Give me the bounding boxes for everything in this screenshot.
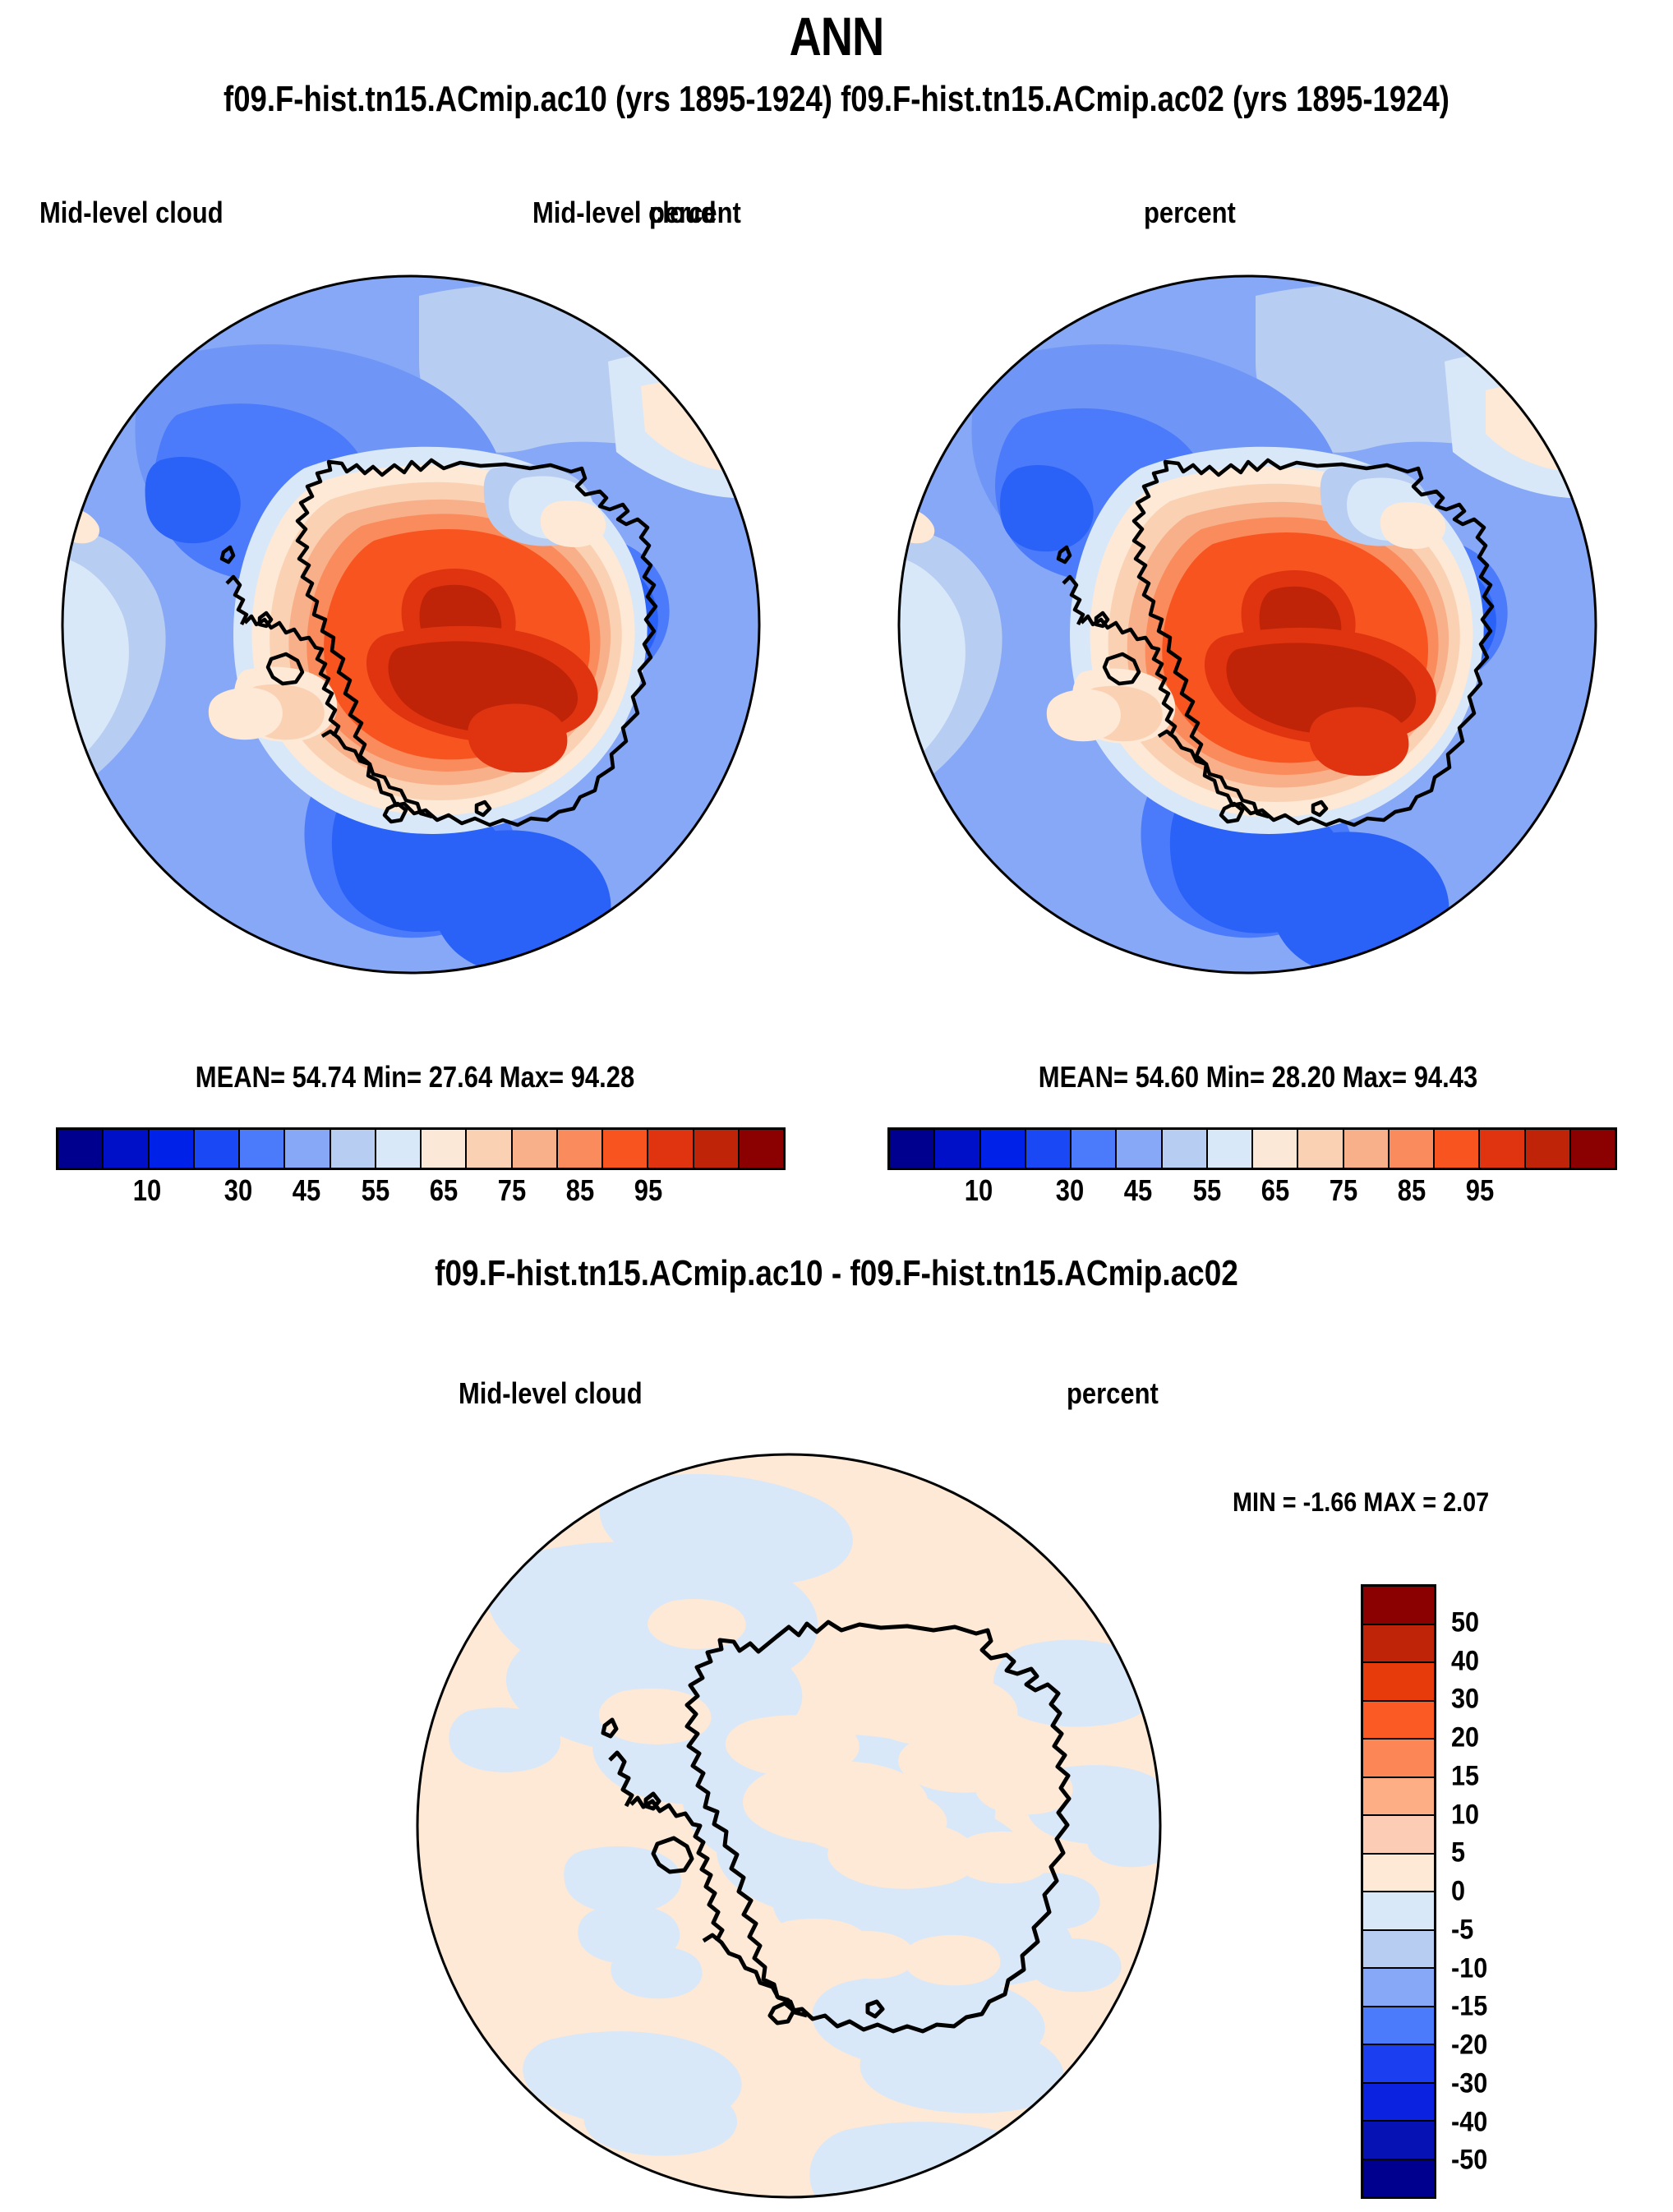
colorbar-tick-label: 85 — [1398, 1173, 1426, 1208]
diff-colorbar-tick-label: -20 — [1451, 2030, 1487, 2062]
left-panel-variable-label: Mid-level cloud — [39, 196, 224, 230]
colorbar-cell — [1526, 1130, 1571, 1168]
left-map-contours — [33, 263, 789, 986]
diff-colorbar-cell — [1363, 1855, 1434, 1893]
diff-colorbar-cell — [1363, 2084, 1434, 2122]
colorbar-cell — [58, 1130, 104, 1168]
colorbar-cell — [195, 1130, 240, 1168]
diff-colorbar — [1361, 1584, 1436, 2199]
colorbar-cell — [422, 1130, 467, 1168]
colorbar-cell — [981, 1130, 1026, 1168]
colorbar-cell — [648, 1130, 694, 1168]
colorbar-cell — [1571, 1130, 1615, 1168]
diff-colorbar-cell — [1363, 1702, 1434, 1740]
colorbar-cell — [104, 1130, 149, 1168]
colorbar-cell — [1163, 1130, 1208, 1168]
colorbar-tick-label: 45 — [1124, 1173, 1152, 1208]
right-map-contours — [869, 263, 1625, 986]
colorbar-cell — [935, 1130, 980, 1168]
diff-colorbar-cell — [1363, 1816, 1434, 1855]
diff-map-svg — [403, 1440, 1175, 2212]
colorbar-tick-label: 55 — [1193, 1173, 1221, 1208]
diff-colorbar-tick-label: -40 — [1451, 2106, 1487, 2138]
colorbar-tick-label: 45 — [293, 1173, 320, 1208]
colorbar-tick-label: 65 — [429, 1173, 457, 1208]
diff-colorbar-tick-label: -30 — [1451, 2067, 1487, 2099]
colorbar-cell — [331, 1130, 376, 1168]
diff-colorbar-cell — [1363, 2045, 1434, 2084]
diff-panel-unit-label: percent — [1067, 1376, 1159, 1411]
colorbar-cell — [1480, 1130, 1525, 1168]
diff-colorbar-cell — [1363, 1663, 1434, 1702]
colorbar-tick-label: 75 — [498, 1173, 526, 1208]
page-title: ANN — [150, 5, 1523, 67]
left-map — [33, 263, 789, 986]
left-colorbar-cells — [56, 1127, 786, 1170]
diff-map-contours — [403, 1440, 1175, 2212]
right-map-svg — [869, 263, 1625, 986]
diff-colorbar-tick-label: -10 — [1451, 1952, 1487, 1984]
left-colorbar-labels: 1030455565758595 — [56, 1170, 786, 1213]
diff-colorbar-tick-label: 5 — [1451, 1837, 1465, 1869]
colorbar-cell — [1208, 1130, 1253, 1168]
colorbar-cell — [890, 1130, 935, 1168]
colorbar-cell — [1298, 1130, 1343, 1168]
colorbar-cell — [1117, 1130, 1162, 1168]
case-subtitle: f09.F-hist.tn15.ACmip.ac10 (yrs 1895-192… — [142, 79, 1531, 120]
right-colorbar-labels: 1030455565758595 — [887, 1170, 1617, 1213]
diff-colorbar-cell — [1363, 1778, 1434, 1817]
difference-title: f09.F-hist.tn15.ACmip.ac10 - f09.F-hist.… — [134, 1253, 1539, 1294]
colorbar-tick-label: 10 — [133, 1173, 161, 1208]
diff-colorbar-labels: 50403020151050-5-10-15-20-30-40-50 — [1451, 1584, 1599, 2199]
diff-colorbar-cell — [1363, 2122, 1434, 2160]
diff-colorbar-cell — [1363, 1587, 1434, 1625]
colorbar-cell — [1026, 1130, 1072, 1168]
diff-colorbar-cell — [1363, 2007, 1434, 2046]
diff-colorbar-tick-label: 30 — [1451, 1684, 1479, 1716]
colorbar-cell — [1253, 1130, 1298, 1168]
colorbar-tick-label: 95 — [634, 1173, 662, 1208]
diff-colorbar-tick-label: -50 — [1451, 2145, 1487, 2177]
diff-colorbar-cell — [1363, 1625, 1434, 1664]
right-panel-variable-label: Mid-level cloud — [532, 196, 717, 230]
colorbar-cell — [1344, 1130, 1390, 1168]
left-map-svg — [33, 263, 789, 986]
right-panel-unit-label: percent — [1144, 196, 1236, 230]
diff-colorbar-cell — [1363, 1740, 1434, 1778]
colorbar-cell — [558, 1130, 603, 1168]
diff-colorbar-tick-label: 15 — [1451, 1760, 1479, 1792]
colorbar-cell — [1390, 1130, 1435, 1168]
diff-colorbar-tick-label: -5 — [1451, 1914, 1473, 1946]
colorbar-cell — [513, 1130, 558, 1168]
diff-colorbar-tick-label: 50 — [1451, 1606, 1479, 1638]
colorbar-cell — [1435, 1130, 1480, 1168]
colorbar-cell — [694, 1130, 740, 1168]
colorbar-cell — [467, 1130, 512, 1168]
diff-colorbar-tick-label: 40 — [1451, 1645, 1479, 1677]
colorbar-cell — [376, 1130, 422, 1168]
diff-panel-variable-label: Mid-level cloud — [459, 1376, 643, 1411]
colorbar-tick-label: 30 — [1056, 1173, 1084, 1208]
diff-colorbar-cell — [1363, 2160, 1434, 2197]
colorbar-tick-label: 85 — [566, 1173, 594, 1208]
colorbar-cell — [740, 1130, 783, 1168]
colorbar-tick-label: 30 — [224, 1173, 252, 1208]
right-colorbar: 1030455565758595 — [887, 1127, 1617, 1213]
diff-colorbar-cells — [1361, 1584, 1436, 2199]
colorbar-cell — [1072, 1130, 1117, 1168]
colorbar-cell — [285, 1130, 330, 1168]
colorbar-tick-label: 95 — [1466, 1173, 1494, 1208]
colorbar-cell — [240, 1130, 285, 1168]
diff-colorbar-cell — [1363, 1969, 1434, 2007]
left-panel-stats: MEAN= 54.74 Min= 27.64 Max= 94.28 — [58, 1060, 772, 1094]
diff-minmax-label: MIN = -1.66 MAX = 2.07 — [1233, 1487, 1489, 1518]
colorbar-tick-label: 55 — [362, 1173, 389, 1208]
colorbar-tick-label: 65 — [1261, 1173, 1288, 1208]
diff-colorbar-tick-label: -15 — [1451, 1991, 1487, 2023]
colorbar-tick-label: 75 — [1330, 1173, 1357, 1208]
diff-colorbar-tick-label: 0 — [1451, 1876, 1465, 1908]
colorbar-cell — [603, 1130, 648, 1168]
colorbar-cell — [150, 1130, 195, 1168]
diff-colorbar-cell — [1363, 1892, 1434, 1931]
left-colorbar: 1030455565758595 — [56, 1127, 786, 1213]
right-map — [869, 263, 1625, 986]
diff-colorbar-cell — [1363, 1931, 1434, 1970]
colorbar-tick-label: 10 — [965, 1173, 993, 1208]
diff-map — [403, 1440, 1175, 2212]
right-colorbar-cells — [887, 1127, 1617, 1170]
right-panel-stats: MEAN= 54.60 Min= 28.20 Max= 94.43 — [901, 1060, 1615, 1094]
diff-colorbar-tick-label: 10 — [1451, 1799, 1479, 1831]
diff-colorbar-tick-label: 20 — [1451, 1722, 1479, 1754]
